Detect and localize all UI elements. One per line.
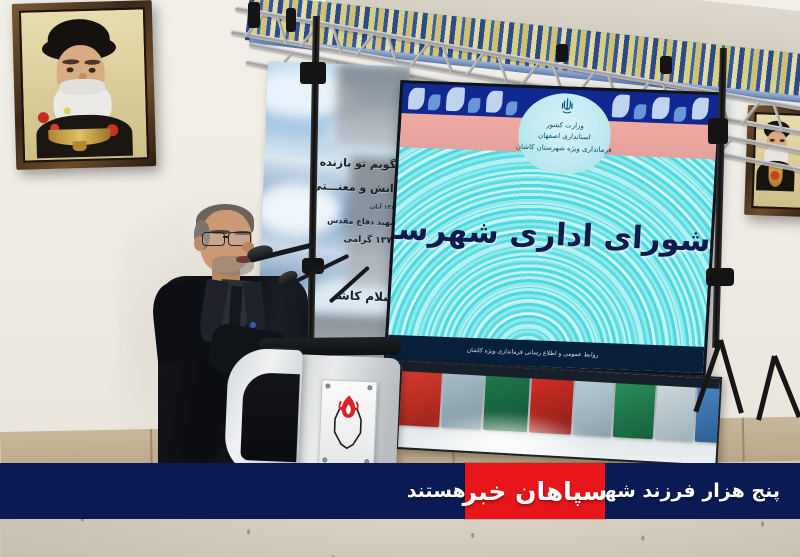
light-stand-head-center bbox=[300, 62, 326, 84]
banner-line-1: نگویم تو بازنده bbox=[320, 155, 401, 171]
truss-clamp bbox=[248, 2, 260, 28]
truss-clamp bbox=[660, 56, 672, 74]
iran-emblem-icon bbox=[560, 97, 575, 116]
channel-logo-box[interactable]: سپاهان خبر bbox=[465, 463, 605, 519]
screenshot-frame: نگویم تو بازنده دانش و معنـــتی ۱۳۸۰ آبا… bbox=[0, 0, 800, 557]
podium-wing-cutout bbox=[240, 372, 300, 462]
portrait-frame-khomeini bbox=[12, 0, 157, 170]
podium-flame-emblem-icon bbox=[338, 394, 359, 425]
news-ticker-bar: پنج هزار فرزند شهید استان بیکار هستند bbox=[0, 463, 800, 519]
light-stand-clamp bbox=[706, 268, 734, 286]
truss-clamp bbox=[556, 44, 568, 62]
truss-clamp bbox=[286, 8, 296, 32]
lower-display-panels bbox=[396, 359, 723, 467]
channel-logo-text: سپاهان خبر bbox=[463, 477, 608, 506]
led-presentation-screen: وزارت کشور استانداری اصفهان فرمانداری وی… bbox=[384, 80, 723, 376]
banner-line-5: ۱۳۷۳ گرامی bbox=[343, 234, 397, 246]
light-stand-head bbox=[708, 118, 728, 144]
